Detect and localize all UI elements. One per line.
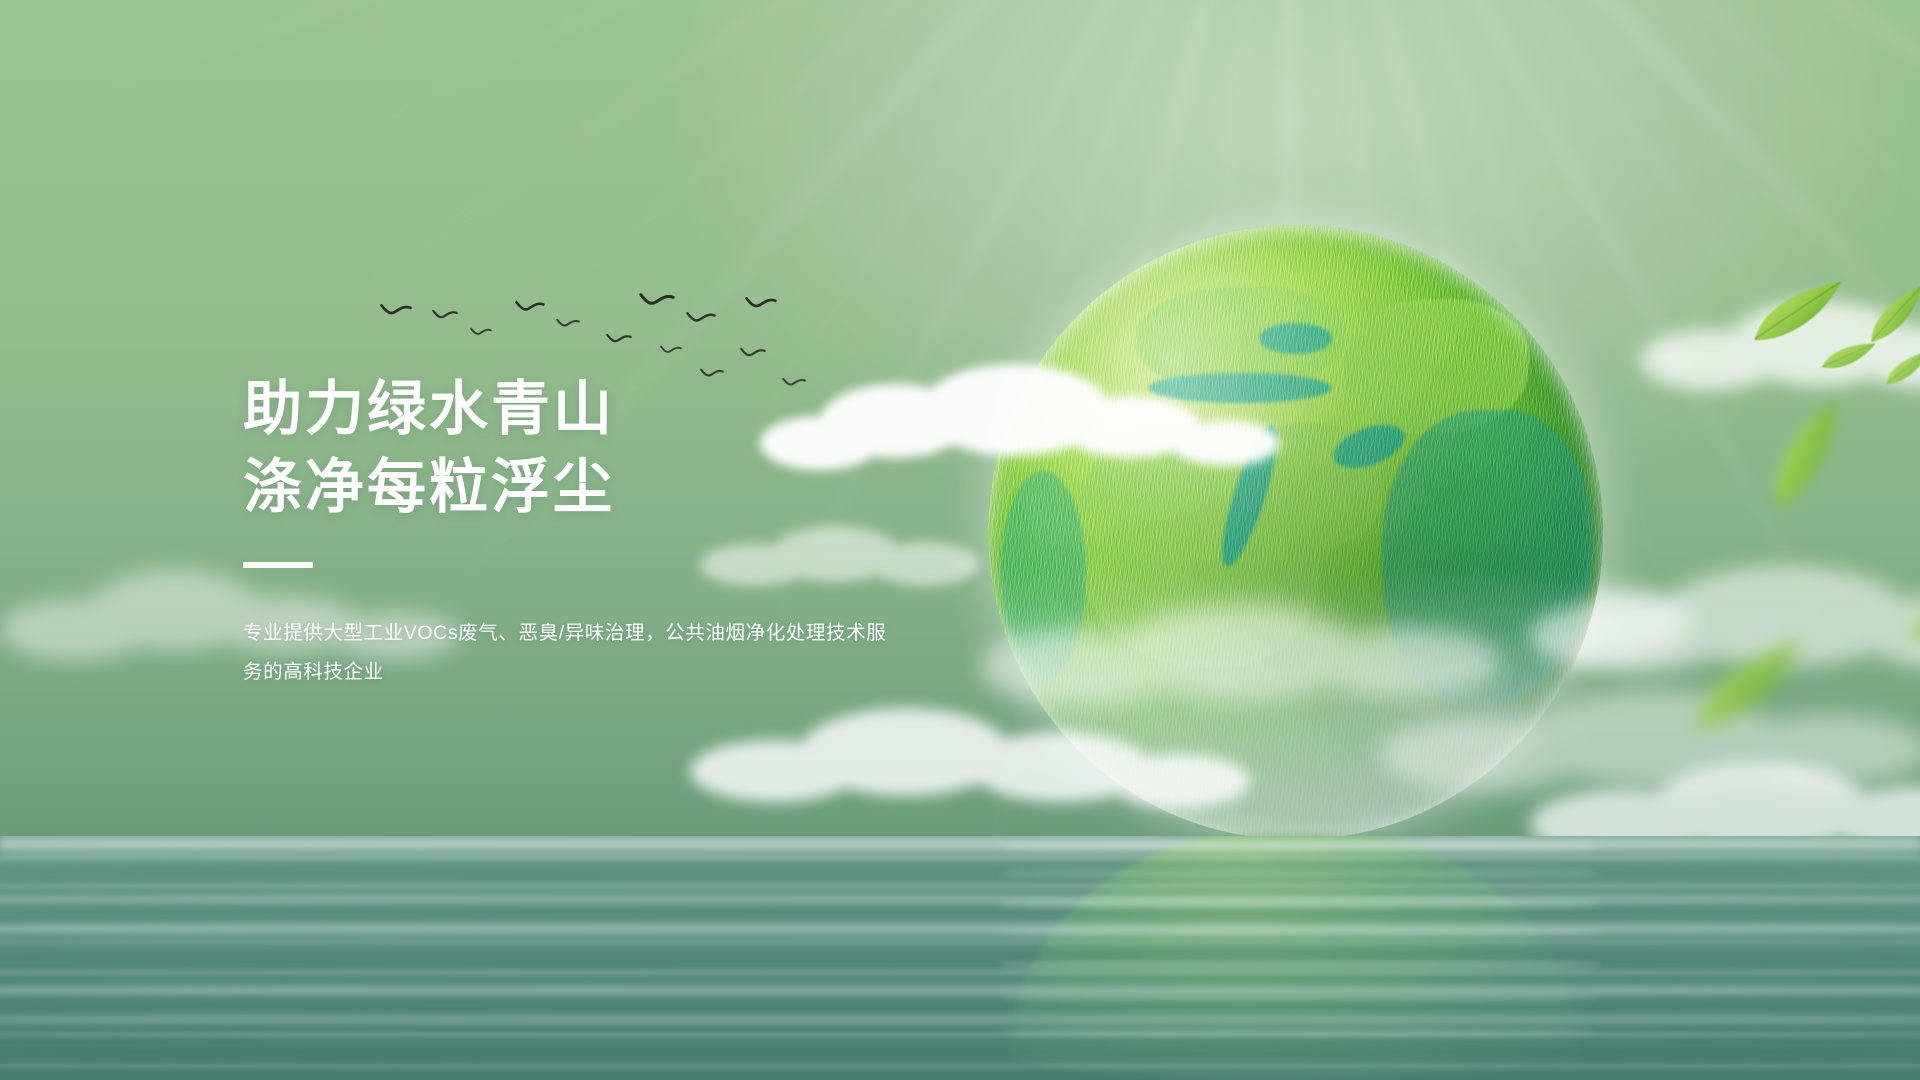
headline-line-1: 助力绿水青山 bbox=[243, 376, 615, 442]
water-ripple bbox=[0, 864, 1920, 881]
reflection-streak bbox=[1000, 960, 1600, 970]
page-subtitle: 专业提供大型工业VOCs废气、恶臭/异味治理，公共油烟净化处理技术服务的高科技企… bbox=[243, 614, 903, 692]
reflection-streak bbox=[1000, 870, 1600, 877]
bird-icon bbox=[686, 311, 716, 328]
water-ripple bbox=[0, 983, 1920, 998]
water-ripple bbox=[0, 969, 1920, 976]
bird-icon bbox=[660, 345, 682, 357]
bird-icon bbox=[745, 296, 777, 314]
hero-copy: 助力绿水青山 涤净每粒浮尘 专业提供大型工业VOCs废气、恶臭/异味治理，公共油… bbox=[243, 370, 943, 712]
bird-icon bbox=[515, 300, 545, 317]
reflection-streak bbox=[1000, 994, 1600, 1002]
bird-icon bbox=[740, 347, 766, 361]
reflection-streak bbox=[1000, 842, 1600, 851]
cloud-puff bbox=[1170, 420, 1280, 466]
water-ripple bbox=[0, 1031, 1920, 1037]
bird-icon bbox=[639, 292, 675, 312]
headline-line-2: 涤净每粒浮尘 bbox=[243, 454, 615, 520]
water-ripple bbox=[0, 920, 1920, 938]
water-surface bbox=[0, 836, 1920, 1080]
water-ripple bbox=[0, 951, 1920, 964]
water-ripple bbox=[0, 939, 1920, 946]
water-ripple bbox=[0, 1013, 1920, 1026]
bird-icon bbox=[556, 318, 580, 331]
cloud-puff bbox=[1110, 754, 1250, 808]
bird-icon bbox=[380, 303, 412, 321]
water-ripple bbox=[0, 1063, 1920, 1070]
water-ripple bbox=[0, 1001, 1920, 1007]
page-title: 助力绿水青山 涤净每粒浮尘 bbox=[243, 370, 943, 526]
water-ripple bbox=[0, 883, 1920, 890]
cloud-puff bbox=[1310, 628, 1500, 698]
bird-icon bbox=[470, 327, 492, 339]
water-ripple bbox=[0, 855, 1920, 860]
title-divider bbox=[243, 562, 313, 568]
water-ripple bbox=[0, 1046, 1920, 1058]
bird-icon bbox=[432, 309, 458, 323]
reflection-streak bbox=[1000, 1028, 1600, 1037]
bird-icon bbox=[606, 333, 632, 347]
water-ripple bbox=[0, 840, 1920, 850]
water-ripple bbox=[0, 893, 1920, 906]
reflection-streak bbox=[1000, 898, 1600, 909]
hero-banner: 助力绿水青山 涤净每粒浮尘 专业提供大型工业VOCs废气、恶臭/异味治理，公共油… bbox=[0, 0, 1920, 1080]
reflection-streak bbox=[1000, 928, 1600, 936]
water-ripple bbox=[0, 907, 1920, 918]
